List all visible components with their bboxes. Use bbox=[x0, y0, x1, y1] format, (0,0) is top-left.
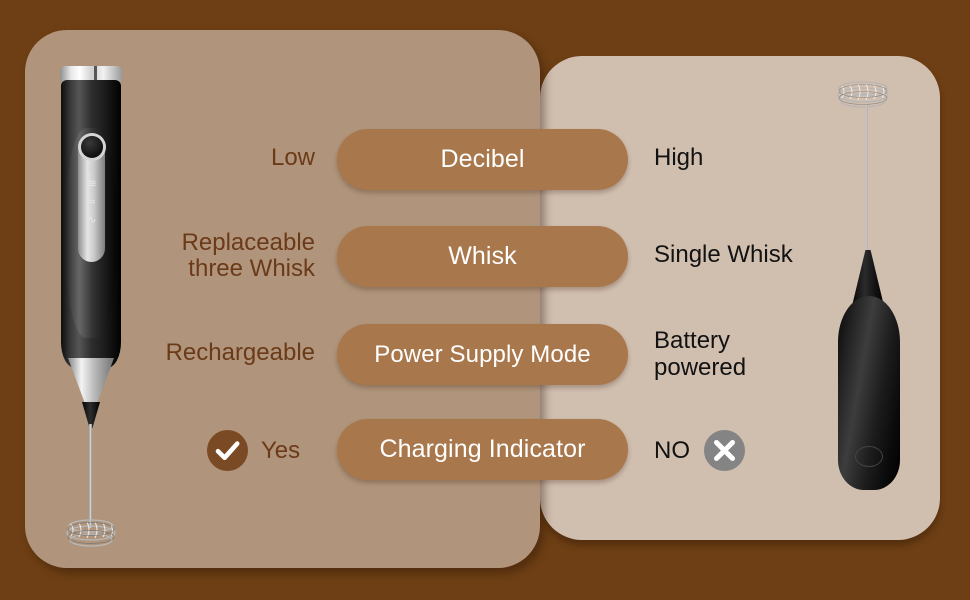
feature-label-whisk: Whisk bbox=[448, 244, 517, 269]
left-value-charging-indicator-group: Yes bbox=[207, 430, 300, 471]
right-value-whisk: Single Whisk bbox=[654, 242, 793, 269]
right-value-charging-indicator: NO bbox=[654, 439, 690, 463]
comparison-row-power-supply-mode: Rechargeable Power Supply Mode Battery p… bbox=[0, 324, 970, 386]
battery-frother-whisk-icon bbox=[830, 78, 896, 112]
left-value-power-supply-mode: Rechargeable bbox=[166, 340, 315, 366]
feature-pill-power-supply-mode[interactable]: Power Supply Mode bbox=[337, 324, 628, 385]
speed-indicator-2-icon: ≈ bbox=[85, 196, 99, 209]
right-value-charging-indicator-group: NO bbox=[654, 430, 745, 471]
comparison-row-decibel: Low Decibel High bbox=[0, 129, 970, 191]
comparison-row-charging-indicator: Yes Charging Indicator NO bbox=[0, 419, 970, 481]
cross-circle-icon bbox=[704, 430, 745, 471]
left-value-decibel: Low bbox=[271, 145, 315, 171]
frother-spring-whisk-icon bbox=[61, 516, 121, 550]
left-value-whisk: Replaceable three Whisk bbox=[182, 230, 315, 282]
feature-pill-charging-indicator[interactable]: Charging Indicator bbox=[337, 419, 628, 480]
left-value-charging-indicator: Yes bbox=[261, 439, 300, 463]
feature-pill-whisk[interactable]: Whisk bbox=[337, 226, 628, 287]
feature-label-power-supply-mode: Power Supply Mode bbox=[374, 343, 590, 367]
infographic-canvas: ☲ ≋ ≈ ∿ bbox=[0, 0, 970, 600]
feature-label-decibel: Decibel bbox=[440, 147, 524, 172]
feature-pill-decibel[interactable]: Decibel bbox=[337, 129, 628, 190]
check-circle-icon bbox=[207, 430, 248, 471]
feature-label-charging-indicator: Charging Indicator bbox=[379, 437, 585, 462]
right-value-power-supply-mode: Battery powered bbox=[654, 328, 746, 382]
comparison-row-whisk: Replaceable three Whisk Whisk Single Whi… bbox=[0, 226, 970, 288]
right-value-decibel: High bbox=[654, 145, 703, 172]
